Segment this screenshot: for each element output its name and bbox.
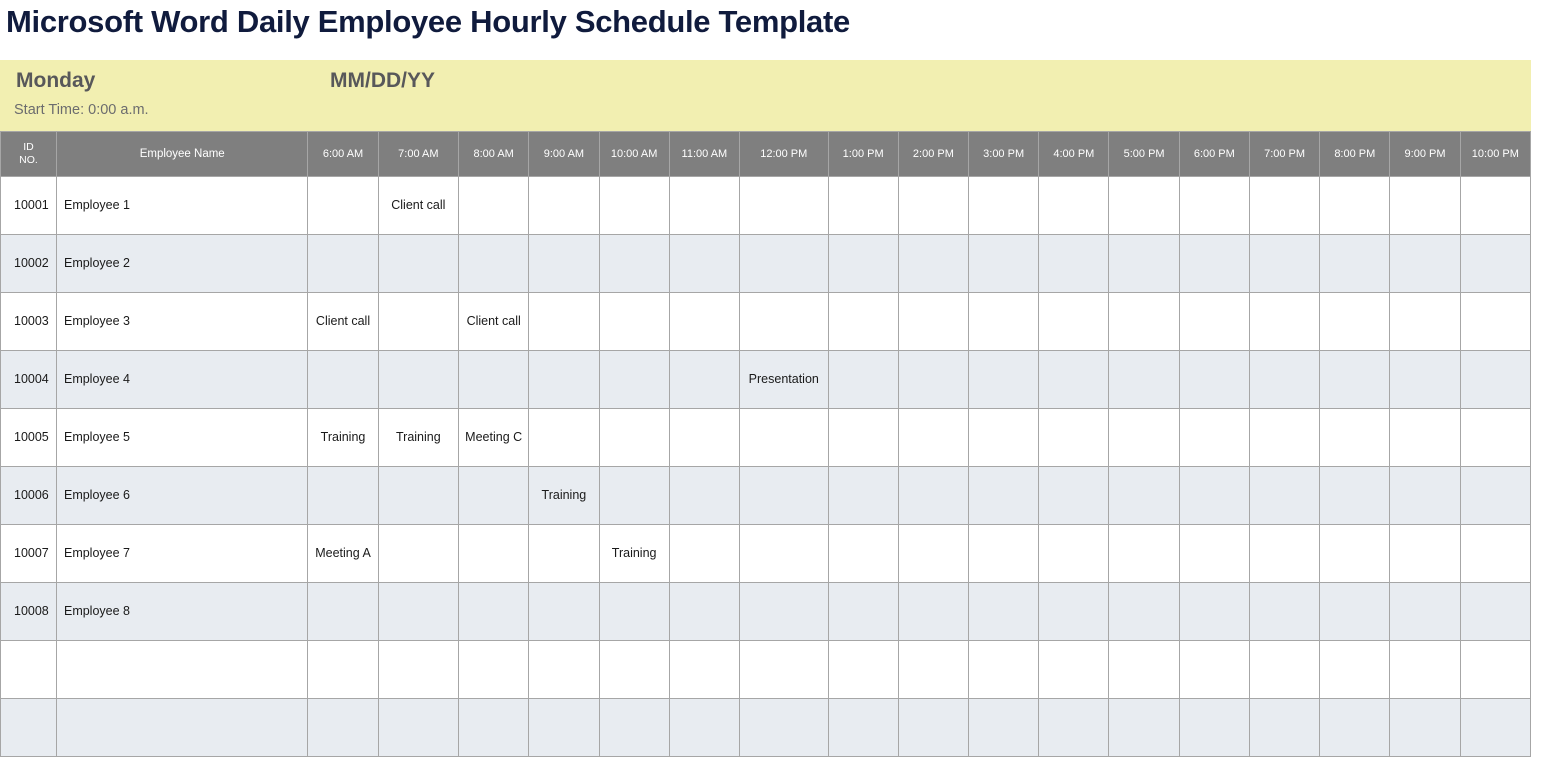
cell-schedule-slot[interactable]: Training xyxy=(378,409,458,467)
cell-schedule-slot[interactable] xyxy=(1179,467,1249,525)
cell-schedule-slot[interactable] xyxy=(828,641,898,699)
cell-schedule-slot[interactable] xyxy=(1109,177,1179,235)
cell-schedule-slot[interactable] xyxy=(378,583,458,641)
column-header-time-1100am: 11:00 AM xyxy=(669,132,739,177)
cell-schedule-slot[interactable] xyxy=(308,467,378,525)
cell-schedule-slot[interactable] xyxy=(378,293,458,351)
cell-schedule-slot[interactable] xyxy=(969,583,1039,641)
cell-employee-id[interactable] xyxy=(1,641,57,699)
cell-schedule-slot[interactable] xyxy=(969,699,1039,757)
cell-schedule-slot[interactable] xyxy=(969,293,1039,351)
cell-schedule-slot[interactable]: Client call xyxy=(459,293,529,351)
cell-schedule-slot[interactable] xyxy=(669,583,739,641)
cell-schedule-slot[interactable] xyxy=(969,177,1039,235)
cell-schedule-slot[interactable] xyxy=(669,467,739,525)
cell-schedule-slot[interactable] xyxy=(739,293,828,351)
cell-schedule-slot[interactable]: Client call xyxy=(378,177,458,235)
cell-schedule-slot[interactable] xyxy=(599,293,669,351)
cell-schedule-slot[interactable] xyxy=(1249,409,1319,467)
cell-employee-name[interactable]: Employee 3 xyxy=(56,293,307,351)
cell-schedule-slot[interactable] xyxy=(669,699,739,757)
table-row: 10004Employee 4Presentation xyxy=(1,351,1531,409)
cell-schedule-slot[interactable] xyxy=(308,641,378,699)
cell-schedule-slot[interactable] xyxy=(828,235,898,293)
column-header-time-1200pm: 12:00 PM xyxy=(739,132,828,177)
cell-schedule-slot[interactable] xyxy=(1039,409,1109,467)
column-header-id: ID NO. xyxy=(1,132,57,177)
cell-schedule-slot[interactable] xyxy=(828,467,898,525)
cell-schedule-slot[interactable] xyxy=(828,583,898,641)
cell-schedule-slot[interactable] xyxy=(898,699,968,757)
cell-schedule-slot[interactable]: Presentation xyxy=(739,351,828,409)
cell-schedule-slot[interactable] xyxy=(1249,641,1319,699)
table-row: 10002Employee 2 xyxy=(1,235,1531,293)
cell-schedule-slot[interactable] xyxy=(1179,641,1249,699)
cell-schedule-slot[interactable] xyxy=(378,641,458,699)
cell-schedule-slot[interactable] xyxy=(459,699,529,757)
column-header-employee-name: Employee Name xyxy=(56,132,307,177)
column-header-time-0500pm: 5:00 PM xyxy=(1109,132,1179,177)
cell-schedule-slot[interactable] xyxy=(898,409,968,467)
column-header-time-0600am: 6:00 AM xyxy=(308,132,378,177)
cell-schedule-slot[interactable] xyxy=(898,525,968,583)
cell-schedule-slot[interactable] xyxy=(1109,409,1179,467)
banner-day-label: Monday xyxy=(16,68,95,94)
column-header-time-0900pm: 9:00 PM xyxy=(1390,132,1460,177)
cell-schedule-slot[interactable] xyxy=(1390,235,1460,293)
cell-schedule-slot[interactable] xyxy=(898,583,968,641)
cell-employee-id[interactable]: 10004 xyxy=(1,351,57,409)
cell-employee-id[interactable]: 10001 xyxy=(1,177,57,235)
cell-schedule-slot[interactable] xyxy=(1109,467,1179,525)
column-header-time-1000pm: 10:00 PM xyxy=(1460,132,1530,177)
cell-schedule-slot[interactable] xyxy=(1320,699,1390,757)
column-header-time-0100pm: 1:00 PM xyxy=(828,132,898,177)
cell-schedule-slot[interactable] xyxy=(969,351,1039,409)
day-banner: Monday MM/DD/YY Start Time: 0:00 a.m. xyxy=(0,60,1531,131)
cell-schedule-slot[interactable] xyxy=(459,467,529,525)
cell-schedule-slot[interactable] xyxy=(459,641,529,699)
cell-schedule-slot[interactable] xyxy=(1460,409,1530,467)
cell-schedule-slot[interactable] xyxy=(459,525,529,583)
cell-schedule-slot[interactable] xyxy=(1179,177,1249,235)
cell-schedule-slot[interactable] xyxy=(828,351,898,409)
cell-schedule-slot[interactable] xyxy=(1460,699,1530,757)
cell-schedule-slot[interactable] xyxy=(529,583,599,641)
table-row: 10001Employee 1Client call xyxy=(1,177,1531,235)
cell-schedule-slot[interactable] xyxy=(1109,293,1179,351)
cell-schedule-slot[interactable] xyxy=(459,351,529,409)
cell-schedule-slot[interactable] xyxy=(1390,467,1460,525)
cell-schedule-slot[interactable] xyxy=(669,235,739,293)
cell-schedule-slot[interactable] xyxy=(739,583,828,641)
cell-schedule-slot[interactable] xyxy=(828,177,898,235)
cell-schedule-slot[interactable] xyxy=(1179,409,1249,467)
cell-employee-name[interactable]: Employee 5 xyxy=(56,409,307,467)
cell-schedule-slot[interactable] xyxy=(828,525,898,583)
cell-schedule-slot[interactable] xyxy=(1390,641,1460,699)
cell-schedule-slot[interactable] xyxy=(1039,583,1109,641)
cell-employee-id[interactable] xyxy=(1,699,57,757)
cell-schedule-slot[interactable] xyxy=(459,583,529,641)
cell-schedule-slot[interactable]: Training xyxy=(599,525,669,583)
cell-schedule-slot[interactable] xyxy=(969,525,1039,583)
cell-schedule-slot[interactable] xyxy=(1460,351,1530,409)
cell-schedule-slot[interactable] xyxy=(1460,293,1530,351)
cell-schedule-slot[interactable] xyxy=(1320,177,1390,235)
cell-schedule-slot[interactable] xyxy=(1179,583,1249,641)
column-header-id-line1: ID xyxy=(23,141,34,153)
cell-schedule-slot[interactable] xyxy=(599,467,669,525)
cell-schedule-slot[interactable] xyxy=(669,409,739,467)
cell-schedule-slot[interactable] xyxy=(308,177,378,235)
cell-schedule-slot[interactable] xyxy=(739,641,828,699)
cell-schedule-slot[interactable] xyxy=(898,177,968,235)
cell-schedule-slot[interactable] xyxy=(1390,409,1460,467)
table-row xyxy=(1,641,1531,699)
cell-schedule-slot[interactable] xyxy=(308,351,378,409)
column-header-time-0400pm: 4:00 PM xyxy=(1039,132,1109,177)
cell-schedule-slot[interactable] xyxy=(599,409,669,467)
cell-schedule-slot[interactable] xyxy=(1179,235,1249,293)
cell-employee-id[interactable]: 10006 xyxy=(1,467,57,525)
column-header-time-0300pm: 3:00 PM xyxy=(969,132,1039,177)
cell-schedule-slot[interactable] xyxy=(969,409,1039,467)
cell-schedule-slot[interactable] xyxy=(669,351,739,409)
cell-schedule-slot[interactable] xyxy=(1320,525,1390,583)
cell-schedule-slot[interactable] xyxy=(828,409,898,467)
cell-schedule-slot[interactable] xyxy=(1039,177,1109,235)
cell-schedule-slot[interactable] xyxy=(1039,351,1109,409)
table-row: 10007Employee 7Meeting ATraining xyxy=(1,525,1531,583)
cell-schedule-slot[interactable] xyxy=(599,699,669,757)
cell-schedule-slot[interactable] xyxy=(739,177,828,235)
cell-employee-name[interactable]: Employee 2 xyxy=(56,235,307,293)
cell-schedule-slot[interactable] xyxy=(378,699,458,757)
table-row xyxy=(1,699,1531,757)
cell-schedule-slot[interactable] xyxy=(1390,351,1460,409)
cell-schedule-slot[interactable] xyxy=(1320,351,1390,409)
cell-schedule-slot[interactable] xyxy=(308,699,378,757)
cell-schedule-slot[interactable] xyxy=(1179,293,1249,351)
cell-schedule-slot[interactable] xyxy=(1249,235,1319,293)
cell-schedule-slot[interactable] xyxy=(669,641,739,699)
cell-schedule-slot[interactable]: Meeting C xyxy=(459,409,529,467)
cell-schedule-slot[interactable] xyxy=(1390,583,1460,641)
cell-schedule-slot[interactable] xyxy=(529,699,599,757)
cell-schedule-slot[interactable] xyxy=(529,235,599,293)
cell-schedule-slot[interactable] xyxy=(378,235,458,293)
cell-schedule-slot[interactable] xyxy=(1179,525,1249,583)
cell-schedule-slot[interactable] xyxy=(599,235,669,293)
cell-schedule-slot[interactable]: Client call xyxy=(308,293,378,351)
cell-schedule-slot[interactable] xyxy=(1249,699,1319,757)
cell-schedule-slot[interactable] xyxy=(599,351,669,409)
cell-schedule-slot[interactable] xyxy=(739,409,828,467)
cell-employee-name[interactable] xyxy=(56,699,307,757)
cell-schedule-slot[interactable] xyxy=(1249,525,1319,583)
table-row: 10006Employee 6Training xyxy=(1,467,1531,525)
cell-schedule-slot[interactable] xyxy=(1460,177,1530,235)
cell-schedule-slot[interactable] xyxy=(1460,467,1530,525)
table-body: 10001Employee 1Client call10002Employee … xyxy=(1,177,1531,757)
cell-schedule-slot[interactable] xyxy=(1390,293,1460,351)
cell-schedule-slot[interactable] xyxy=(599,177,669,235)
cell-schedule-slot[interactable] xyxy=(669,177,739,235)
cell-schedule-slot[interactable] xyxy=(739,525,828,583)
column-header-time-0700am: 7:00 AM xyxy=(378,132,458,177)
cell-schedule-slot[interactable] xyxy=(1320,409,1390,467)
cell-schedule-slot[interactable] xyxy=(1320,235,1390,293)
cell-schedule-slot[interactable] xyxy=(1460,583,1530,641)
cell-schedule-slot[interactable] xyxy=(898,467,968,525)
column-header-id-line2: NO. xyxy=(19,154,38,166)
cell-schedule-slot[interactable] xyxy=(969,235,1039,293)
column-header-time-0800pm: 8:00 PM xyxy=(1320,132,1390,177)
cell-schedule-slot[interactable] xyxy=(308,583,378,641)
cell-employee-name[interactable]: Employee 7 xyxy=(56,525,307,583)
banner-date-field[interactable]: MM/DD/YY xyxy=(330,68,435,94)
cell-schedule-slot[interactable] xyxy=(739,467,828,525)
cell-schedule-slot[interactable] xyxy=(599,583,669,641)
cell-schedule-slot[interactable] xyxy=(529,641,599,699)
cell-schedule-slot[interactable] xyxy=(1039,293,1109,351)
cell-schedule-slot[interactable] xyxy=(898,235,968,293)
cell-schedule-slot[interactable] xyxy=(739,699,828,757)
cell-schedule-slot[interactable] xyxy=(1109,583,1179,641)
table-row: 10008Employee 8 xyxy=(1,583,1531,641)
column-header-time-0800am: 8:00 AM xyxy=(459,132,529,177)
cell-schedule-slot[interactable] xyxy=(1109,235,1179,293)
column-header-time-0200pm: 2:00 PM xyxy=(898,132,968,177)
cell-schedule-slot[interactable] xyxy=(1039,641,1109,699)
cell-schedule-slot[interactable] xyxy=(378,525,458,583)
cell-schedule-slot[interactable] xyxy=(1320,467,1390,525)
schedule-page: Microsoft Word Daily Employee Hourly Sch… xyxy=(0,0,1542,766)
cell-schedule-slot[interactable] xyxy=(898,293,968,351)
cell-schedule-slot[interactable] xyxy=(308,235,378,293)
cell-employee-name[interactable]: Employee 4 xyxy=(56,351,307,409)
column-header-time-0600pm: 6:00 PM xyxy=(1179,132,1249,177)
cell-schedule-slot[interactable] xyxy=(1249,177,1319,235)
cell-schedule-slot[interactable] xyxy=(1109,351,1179,409)
cell-schedule-slot[interactable] xyxy=(1109,525,1179,583)
cell-schedule-slot[interactable] xyxy=(1179,351,1249,409)
column-header-time-1000am: 10:00 AM xyxy=(599,132,669,177)
cell-schedule-slot[interactable] xyxy=(1039,467,1109,525)
cell-schedule-slot[interactable] xyxy=(1109,699,1179,757)
cell-schedule-slot[interactable] xyxy=(739,235,828,293)
cell-employee-id[interactable]: 10003 xyxy=(1,293,57,351)
cell-schedule-slot[interactable] xyxy=(1039,699,1109,757)
cell-schedule-slot[interactable] xyxy=(969,467,1039,525)
cell-schedule-slot[interactable] xyxy=(378,351,458,409)
cell-schedule-slot[interactable] xyxy=(898,351,968,409)
cell-schedule-slot[interactable] xyxy=(529,351,599,409)
cell-schedule-slot[interactable]: Meeting A xyxy=(308,525,378,583)
banner-start-time[interactable]: Start Time: 0:00 a.m. xyxy=(14,100,149,120)
cell-schedule-slot[interactable] xyxy=(828,293,898,351)
cell-schedule-slot[interactable] xyxy=(1249,293,1319,351)
cell-schedule-slot[interactable] xyxy=(669,293,739,351)
cell-employee-id[interactable]: 10007 xyxy=(1,525,57,583)
cell-schedule-slot[interactable] xyxy=(1390,699,1460,757)
cell-schedule-slot[interactable] xyxy=(1460,525,1530,583)
cell-schedule-slot[interactable]: Training xyxy=(308,409,378,467)
table-row: 10005Employee 5TrainingTrainingMeeting C xyxy=(1,409,1531,467)
cell-employee-name[interactable]: Employee 6 xyxy=(56,467,307,525)
cell-employee-name[interactable] xyxy=(56,641,307,699)
cell-schedule-slot[interactable] xyxy=(459,235,529,293)
cell-schedule-slot[interactable] xyxy=(898,641,968,699)
table-head: ID NO. Employee Name 6:00 AM 7:00 AM 8:0… xyxy=(1,132,1531,177)
cell-employee-name[interactable]: Employee 8 xyxy=(56,583,307,641)
cell-schedule-slot[interactable] xyxy=(1390,525,1460,583)
cell-schedule-slot[interactable] xyxy=(1249,351,1319,409)
cell-schedule-slot[interactable] xyxy=(1320,293,1390,351)
cell-schedule-slot[interactable] xyxy=(459,177,529,235)
cell-employee-id[interactable]: 10005 xyxy=(1,409,57,467)
table-row: 10003Employee 3Client callClient call xyxy=(1,293,1531,351)
cell-schedule-slot[interactable] xyxy=(529,177,599,235)
cell-schedule-slot[interactable] xyxy=(1039,525,1109,583)
cell-schedule-slot[interactable] xyxy=(1460,641,1530,699)
cell-schedule-slot[interactable] xyxy=(1179,699,1249,757)
cell-employee-id[interactable]: 10008 xyxy=(1,583,57,641)
cell-schedule-slot[interactable] xyxy=(378,467,458,525)
cell-schedule-slot[interactable] xyxy=(669,525,739,583)
table-header-row: ID NO. Employee Name 6:00 AM 7:00 AM 8:0… xyxy=(1,132,1531,177)
cell-schedule-slot[interactable] xyxy=(1249,467,1319,525)
cell-schedule-slot[interactable] xyxy=(828,699,898,757)
cell-schedule-slot[interactable] xyxy=(529,293,599,351)
cell-employee-name[interactable]: Employee 1 xyxy=(56,177,307,235)
cell-schedule-slot[interactable] xyxy=(1320,641,1390,699)
cell-schedule-slot[interactable] xyxy=(1320,583,1390,641)
cell-schedule-slot[interactable] xyxy=(1109,641,1179,699)
cell-schedule-slot[interactable]: Training xyxy=(529,467,599,525)
schedule-table: ID NO. Employee Name 6:00 AM 7:00 AM 8:0… xyxy=(0,131,1531,757)
cell-schedule-slot[interactable] xyxy=(599,641,669,699)
cell-schedule-slot[interactable] xyxy=(1390,177,1460,235)
column-header-time-0900am: 9:00 AM xyxy=(529,132,599,177)
cell-schedule-slot[interactable] xyxy=(1249,583,1319,641)
cell-schedule-slot[interactable] xyxy=(529,409,599,467)
cell-schedule-slot[interactable] xyxy=(1039,235,1109,293)
cell-employee-id[interactable]: 10002 xyxy=(1,235,57,293)
page-title: Microsoft Word Daily Employee Hourly Sch… xyxy=(6,2,850,42)
cell-schedule-slot[interactable] xyxy=(969,641,1039,699)
column-header-time-0700pm: 7:00 PM xyxy=(1249,132,1319,177)
cell-schedule-slot[interactable] xyxy=(529,525,599,583)
cell-schedule-slot[interactable] xyxy=(1460,235,1530,293)
